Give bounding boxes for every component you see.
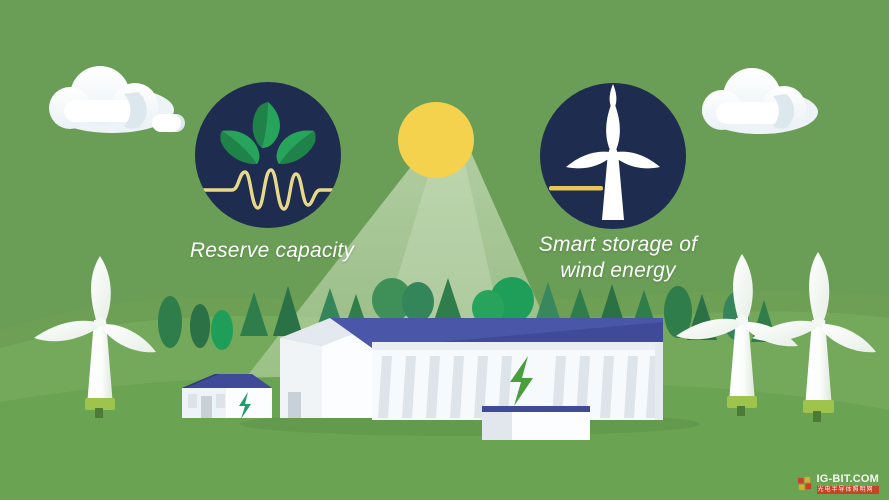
scene-artwork bbox=[0, 0, 889, 500]
watermark-logo-icon bbox=[797, 476, 814, 493]
badge-hub bbox=[609, 148, 617, 156]
house-window-right bbox=[216, 394, 225, 408]
watermark-subtitle: 光电半导体照明网 bbox=[817, 486, 880, 494]
turbine-r2-footing bbox=[813, 411, 821, 422]
facility-side-door bbox=[288, 392, 301, 418]
house-wall-right bbox=[226, 388, 272, 418]
watermark-title: IG-BIT.COM bbox=[817, 474, 880, 485]
smart-storage-wind-energy-label: Smart storage of wind energy bbox=[518, 232, 718, 284]
facility-wall-top-band bbox=[372, 342, 663, 350]
front-unit-side bbox=[482, 412, 512, 440]
battery-storage-facility bbox=[280, 318, 663, 420]
turbine-r2-hub bbox=[813, 317, 823, 327]
turbine-r1-footing bbox=[737, 406, 745, 416]
ig-bit-watermark: IG-BIT.COM 光电半导体照明网 bbox=[797, 474, 880, 494]
sun-icon bbox=[398, 102, 474, 178]
watermark-text-block: IG-BIT.COM 光电半导体照明网 bbox=[817, 474, 880, 494]
leaf-waveform-badge bbox=[195, 82, 342, 228]
cloud-left-small bbox=[152, 114, 185, 132]
front-transformer-unit bbox=[482, 406, 590, 440]
wind-turbine-badge bbox=[540, 83, 686, 229]
house-door bbox=[201, 396, 212, 418]
illustration-canvas: Reserve capacity Smart storage of wind e… bbox=[0, 0, 889, 500]
facility-right-edge bbox=[655, 342, 663, 420]
turbine-left-footing bbox=[95, 408, 103, 418]
turbine-left-hub bbox=[95, 317, 105, 327]
front-unit-body bbox=[512, 412, 590, 440]
turbine-r1-hub bbox=[737, 315, 747, 325]
house-window-left bbox=[188, 394, 197, 408]
reserve-capacity-label: Reserve capacity bbox=[182, 238, 362, 264]
badge-bar bbox=[549, 186, 603, 191]
